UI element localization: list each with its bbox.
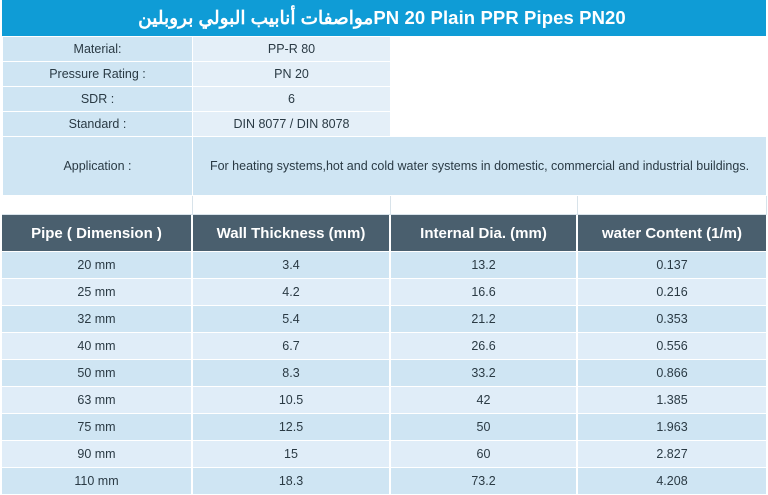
page-title-arabic: مواصفات أنابيب البولي بروبلين xyxy=(138,7,373,28)
cell-internal-dia: 33.2 xyxy=(390,360,577,387)
pipe-dimension-table: Pipe ( Dimension ) Wall Thickness (mm) I… xyxy=(2,215,766,495)
cell-internal-dia: 42 xyxy=(390,387,577,414)
table-row: 50 mm 8.3 33.2 0.866 xyxy=(2,360,766,387)
cell-water-content: 2.827 xyxy=(577,441,766,468)
spec-blank-cell xyxy=(391,112,578,137)
cell-wall-thickness: 10.5 xyxy=(192,387,390,414)
cell-pipe-dimension: 75 mm xyxy=(2,414,192,441)
cell-wall-thickness: 6.7 xyxy=(192,333,390,360)
cell-wall-thickness: 8.3 xyxy=(192,360,390,387)
cell-internal-dia: 73.2 xyxy=(390,468,577,495)
spec-blank-cell xyxy=(578,37,767,62)
cell-pipe-dimension: 40 mm xyxy=(2,333,192,360)
spec-value-application: For heating systems,hot and cold water s… xyxy=(193,137,767,196)
cell-internal-dia: 60 xyxy=(390,441,577,468)
spec-blank-cell xyxy=(578,87,767,112)
spec-row-pressure-rating: Pressure Rating : PN 20 xyxy=(3,62,767,87)
title-banner: PN 20 Plain PPR Pipes PN20مواصفات أنابيب… xyxy=(2,0,766,36)
table-row: 20 mm 3.4 13.2 0.137 xyxy=(2,252,766,279)
spec-row-sdr: SDR : 6 xyxy=(3,87,767,112)
cell-pipe-dimension: 32 mm xyxy=(2,306,192,333)
spec-blank-cell xyxy=(391,87,578,112)
spec-label: Standard : xyxy=(3,112,193,137)
spacer-cell xyxy=(3,196,193,215)
pipe-table-head: Pipe ( Dimension ) Wall Thickness (mm) I… xyxy=(2,215,766,252)
cell-pipe-dimension: 90 mm xyxy=(2,441,192,468)
spacer-cell xyxy=(193,196,391,215)
column-header-internal-dia: Internal Dia. (mm) xyxy=(390,215,577,252)
cell-pipe-dimension: 20 mm xyxy=(2,252,192,279)
cell-pipe-dimension: 63 mm xyxy=(2,387,192,414)
column-header-pipe-dimension: Pipe ( Dimension ) xyxy=(2,215,192,252)
spec-label: Material: xyxy=(3,37,193,62)
cell-water-content: 0.137 xyxy=(577,252,766,279)
spec-blank-cell xyxy=(391,62,578,87)
cell-water-content: 0.216 xyxy=(577,279,766,306)
page-title: PN 20 Plain PPR Pipes PN20مواصفات أنابيب… xyxy=(138,7,626,29)
column-header-wall-thickness: Wall Thickness (mm) xyxy=(192,215,390,252)
spec-value: PN 20 xyxy=(193,62,391,87)
spacer-cell xyxy=(578,196,767,215)
cell-internal-dia: 26.6 xyxy=(390,333,577,360)
cell-wall-thickness: 5.4 xyxy=(192,306,390,333)
cell-pipe-dimension: 110 mm xyxy=(2,468,192,495)
cell-pipe-dimension: 25 mm xyxy=(2,279,192,306)
cell-internal-dia: 21.2 xyxy=(390,306,577,333)
table-row: 90 mm 15 60 2.827 xyxy=(2,441,766,468)
cell-wall-thickness: 4.2 xyxy=(192,279,390,306)
cell-pipe-dimension: 50 mm xyxy=(2,360,192,387)
spec-label: SDR : xyxy=(3,87,193,112)
spec-value: DIN 8077 / DIN 8078 xyxy=(193,112,391,137)
column-header-water-content: water Content (1/m) xyxy=(577,215,766,252)
cell-water-content: 1.963 xyxy=(577,414,766,441)
spec-value: 6 xyxy=(193,87,391,112)
spec-row-material: Material: PP-R 80 xyxy=(3,37,767,62)
specification-sheet: PN 20 Plain PPR Pipes PN20مواصفات أنابيب… xyxy=(0,0,768,495)
cell-water-content: 4.208 xyxy=(577,468,766,495)
table-row: 75 mm 12.5 50 1.963 xyxy=(2,414,766,441)
spec-blank-cell xyxy=(391,37,578,62)
spec-value: PP-R 80 xyxy=(193,37,391,62)
spec-row-standard: Standard : DIN 8077 / DIN 8078 xyxy=(3,112,767,137)
cell-water-content: 0.866 xyxy=(577,360,766,387)
specification-body: Material: PP-R 80 Pressure Rating : PN 2… xyxy=(3,37,767,215)
cell-wall-thickness: 12.5 xyxy=(192,414,390,441)
spec-label: Pressure Rating : xyxy=(3,62,193,87)
specification-table: Material: PP-R 80 Pressure Rating : PN 2… xyxy=(2,36,767,215)
table-row: 32 mm 5.4 21.2 0.353 xyxy=(2,306,766,333)
table-row: 63 mm 10.5 42 1.385 xyxy=(2,387,766,414)
pipe-table-header-row: Pipe ( Dimension ) Wall Thickness (mm) I… xyxy=(2,215,766,252)
cell-internal-dia: 50 xyxy=(390,414,577,441)
cell-water-content: 1.385 xyxy=(577,387,766,414)
spec-blank-cell xyxy=(578,112,767,137)
cell-water-content: 0.353 xyxy=(577,306,766,333)
cell-wall-thickness: 3.4 xyxy=(192,252,390,279)
cell-wall-thickness: 15 xyxy=(192,441,390,468)
table-row: 110 mm 18.3 73.2 4.208 xyxy=(2,468,766,495)
spec-row-application: Application : For heating systems,hot an… xyxy=(3,137,767,196)
page-title-english: PN 20 Plain PPR Pipes PN20 xyxy=(373,7,625,28)
spec-label-application: Application : xyxy=(3,137,193,196)
cell-wall-thickness: 18.3 xyxy=(192,468,390,495)
pipe-table-body: 20 mm 3.4 13.2 0.137 25 mm 4.2 16.6 0.21… xyxy=(2,252,766,495)
spec-blank-cell xyxy=(578,62,767,87)
table-row: 25 mm 4.2 16.6 0.216 xyxy=(2,279,766,306)
spec-spacer-row xyxy=(3,196,767,215)
spacer-cell xyxy=(391,196,578,215)
table-row: 40 mm 6.7 26.6 0.556 xyxy=(2,333,766,360)
cell-internal-dia: 16.6 xyxy=(390,279,577,306)
cell-internal-dia: 13.2 xyxy=(390,252,577,279)
cell-water-content: 0.556 xyxy=(577,333,766,360)
